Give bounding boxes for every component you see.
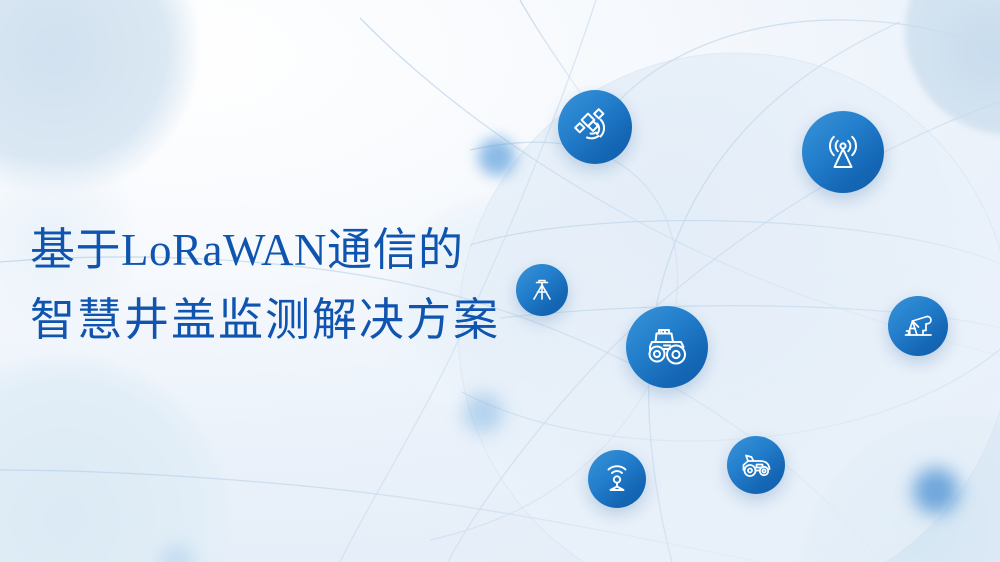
bokeh-dot-upper: [478, 138, 516, 176]
bokeh-dot-bottom-left: [160, 545, 194, 562]
background-blob-top-right: [905, 0, 1000, 135]
orbit-ellipse-5: [598, 20, 1000, 128]
node-oil-pump[interactable]: [888, 296, 948, 356]
bokeh-dot-center-left: [463, 393, 503, 433]
wireless-sensor-icon: [600, 462, 634, 496]
node-harvester[interactable]: [727, 436, 785, 494]
bokeh-dot-lower-right: [913, 468, 959, 514]
background-blob-top-left: [0, 0, 200, 195]
satellite-signal-icon: [574, 106, 616, 148]
oil-pumpjack-icon: [900, 308, 936, 344]
background-blob-bottom-right: [800, 415, 1000, 562]
background-blob-bottom-left: [0, 355, 230, 562]
slide-title-line-1: 基于LoRaWAN通信的: [30, 222, 590, 280]
orbit-ellipse-8: [0, 470, 760, 562]
slide-title: 基于LoRaWAN通信的 智慧井盖监测解决方案: [30, 222, 590, 349]
node-satellite[interactable]: [558, 90, 632, 164]
node-tractor[interactable]: [626, 306, 708, 388]
node-tripod[interactable]: [516, 264, 568, 316]
tractor-icon: [643, 323, 691, 371]
node-antenna[interactable]: [802, 111, 884, 193]
survey-tripod-icon: [527, 275, 557, 305]
orbit-arc-2: [462, 345, 1000, 441]
radio-tower-icon: [820, 129, 866, 175]
harvester-icon: [738, 447, 774, 483]
slide-title-line-2: 智慧井盖监测解决方案: [30, 292, 590, 350]
node-sensor[interactable]: [588, 450, 646, 508]
slide-canvas: 基于LoRaWAN通信的 智慧井盖监测解决方案: [0, 0, 1000, 562]
